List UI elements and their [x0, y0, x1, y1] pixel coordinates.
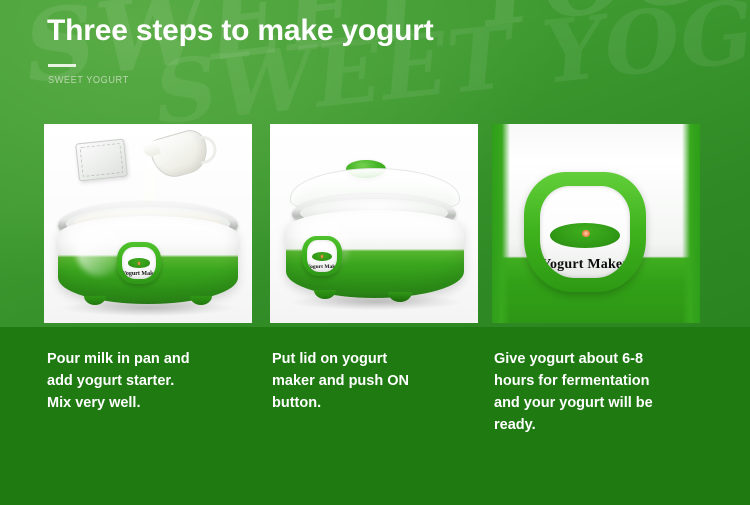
control-panel-1[interactable]: Yogurt Maker	[117, 242, 161, 284]
step-caption-1: Pour milk in pan and add yogurt starter.…	[47, 348, 257, 414]
header-band: SWEET YOGURT SWEET YOGURT Three steps to…	[0, 0, 750, 327]
yogurt-instructions-infographic: SWEET YOGURT SWEET YOGURT Three steps to…	[0, 0, 750, 505]
control-panel-3[interactable]: Yogurt Maker	[524, 172, 646, 292]
yogurt-starter-packet-icon	[75, 139, 128, 182]
milk-pitcher-icon	[147, 126, 215, 183]
indicator-led-1	[138, 262, 141, 265]
appliance-highlight-1	[76, 225, 123, 276]
step-photo-3: Yogurt Maker	[492, 124, 700, 323]
indicator-led-2	[321, 255, 323, 258]
step-caption-3: Give yogurt about 6-8 hours for fermenta…	[494, 348, 712, 436]
step-image-1: Yogurt Maker	[44, 124, 252, 323]
control-panel-face-3: Yogurt Maker	[540, 186, 630, 277]
appliance-shadow-2	[290, 294, 462, 310]
step-photo-2: Yogurt Maker	[270, 124, 478, 323]
product-brand-label-1: Yogurt Maker	[122, 271, 155, 277]
title-divider	[48, 64, 76, 67]
control-panel-2[interactable]: Yogurt Maker	[302, 236, 342, 276]
product-brand-label-3: Yogurt Maker	[540, 257, 630, 273]
appliance-shadow-1	[62, 300, 234, 316]
page-title: Three steps to make yogurt	[47, 13, 434, 49]
indicator-led-3	[582, 230, 589, 237]
control-panel-face-1: Yogurt Maker	[122, 247, 155, 280]
step-image-2: Yogurt Maker	[270, 124, 478, 323]
page-subtitle: SWEET YOGURT	[48, 75, 129, 86]
step-caption-2: Put lid on yogurt maker and push ON butt…	[272, 348, 482, 414]
step-image-3: Yogurt Maker	[492, 124, 700, 323]
appliance-edge-left	[492, 124, 510, 323]
captions-band: Pour milk in pan and add yogurt starter.…	[0, 327, 750, 505]
appliance-edge-right	[682, 124, 700, 323]
step-photo-1: Yogurt Maker	[44, 124, 252, 323]
product-brand-label-2: Yogurt Maker	[307, 264, 337, 270]
control-panel-face-2: Yogurt Maker	[307, 240, 337, 271]
